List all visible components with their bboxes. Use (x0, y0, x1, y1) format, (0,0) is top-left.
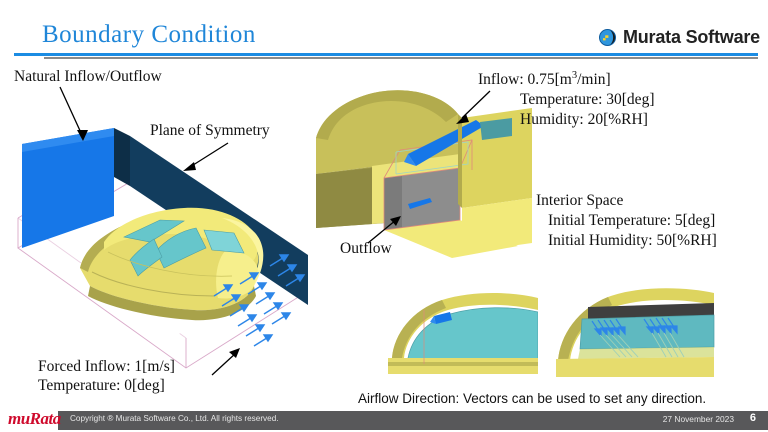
leader-line-plane-of-symmetry (178, 140, 232, 176)
inflow-value: 0.75[m3/min] (528, 71, 611, 88)
page-title: Boundary Condition (42, 21, 256, 49)
brand-logo: Murata Software (599, 27, 760, 48)
inflow-label: Inflow: (478, 71, 524, 88)
footer-copyright: Copyright ® Murata Software Co., Ltd. Al… (70, 414, 279, 423)
figure-vent-closeup (378, 288, 538, 374)
interior-initial-humidity: Initial Humidity: 50[%RH] (548, 232, 717, 250)
annotation-inflow-line: Inflow: 0.75[m3/min] (478, 70, 611, 89)
annotation-inflow-temperature: Temperature: 30[deg] (520, 91, 654, 109)
murata-globe-icon (599, 29, 616, 46)
annotation-forced-inflow: Forced Inflow: 1[m/s] (38, 358, 175, 376)
figure-airflow-vectors-closeup (548, 285, 728, 377)
annotation-inflow-humidity: Humidity: 20[%RH] (520, 111, 648, 129)
leader-line-outflow (366, 214, 404, 246)
title-divider (14, 53, 758, 56)
leader-line-natural-inflow (56, 85, 96, 147)
annotation-natural-inflow-outflow: Natural Inflow/Outflow (14, 68, 162, 86)
caption-airflow-direction: Airflow Direction: Vectors can be used t… (358, 391, 706, 406)
leader-line-inflow (448, 88, 494, 130)
figure-wind-tunnel-model (8, 100, 308, 390)
slide-canvas: Boundary Condition Murata Software (0, 0, 768, 432)
figure-cabin-cutaway (312, 78, 532, 258)
footer-date: 27 November 2023 (663, 414, 734, 424)
brand-name: Murata Software (623, 27, 760, 48)
leader-line-forced-inflow (208, 345, 244, 379)
interior-initial-temperature: Initial Temperature: 5[deg] (548, 212, 715, 230)
murata-wordmark-logo: muRata (8, 409, 61, 429)
annotation-plane-of-symmetry: Plane of Symmetry (150, 122, 270, 140)
title-divider-shadow (44, 57, 758, 59)
interior-space-title: Interior Space (536, 192, 623, 210)
annotation-forced-inflow-temperature: Temperature: 0[deg] (38, 377, 165, 395)
footer-page-number: 6 (750, 412, 756, 424)
